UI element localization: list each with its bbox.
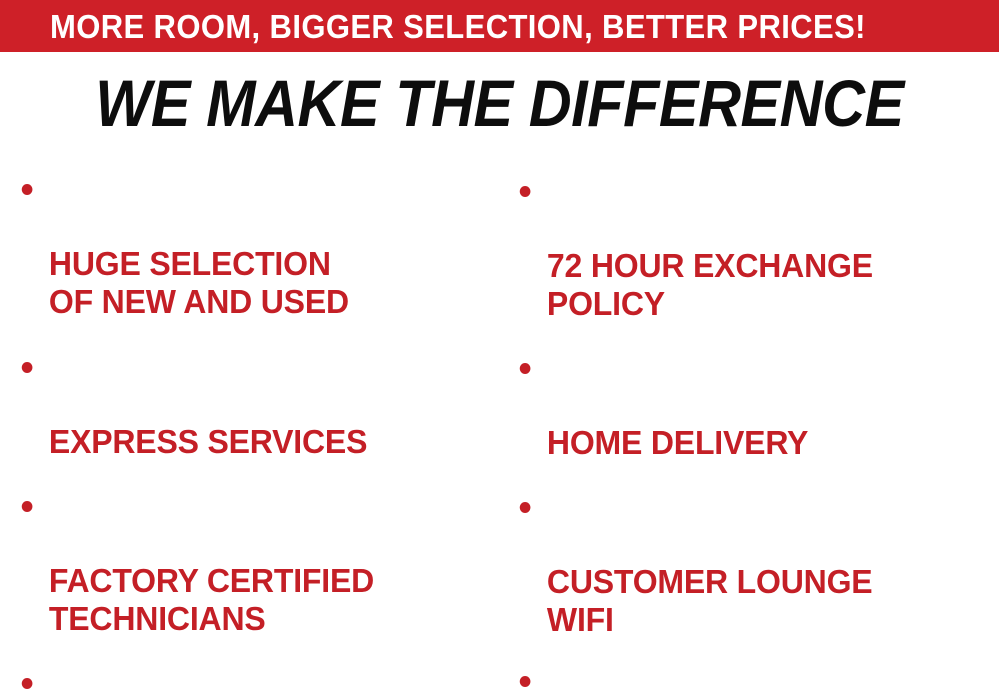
list-item-label: EXPRESS SERVICES xyxy=(49,423,367,460)
list-item-label: HUGE SELECTION OF NEW AND USED xyxy=(49,245,349,320)
bullet-dot-icon xyxy=(22,678,33,689)
bullet-dot-icon xyxy=(520,363,531,374)
bullet-dot-icon xyxy=(520,186,531,197)
bullet-dot-icon xyxy=(22,184,33,195)
list-item-label: CUSTOMER LOUNGE WIFI xyxy=(547,563,873,638)
promotional-banner: MORE ROOM, BIGGER SELECTION, BETTER PRIC… xyxy=(0,0,999,692)
list-item-label: FACTORY CERTIFIED TECHNICIANS xyxy=(49,562,374,637)
list-item: COMPLIMENTARY LOANER CARS xyxy=(14,663,491,692)
bullet-dot-icon xyxy=(22,501,33,512)
list-item: HOME DELIVERY xyxy=(512,348,984,462)
feature-columns: HUGE SELECTION OF NEW AND USED EXPRESS S… xyxy=(0,160,999,692)
list-item: MILITARY DISCOUNTS xyxy=(512,661,984,692)
announcement-strip: MORE ROOM, BIGGER SELECTION, BETTER PRIC… xyxy=(0,0,999,52)
list-item: EXPRESS SERVICES xyxy=(14,347,491,461)
list-item: FACTORY CERTIFIED TECHNICIANS xyxy=(14,486,491,638)
feature-column-left: HUGE SELECTION OF NEW AND USED EXPRESS S… xyxy=(14,160,506,692)
list-item: 72 HOUR EXCHANGE POLICY xyxy=(512,171,984,323)
announcement-strip-text: MORE ROOM, BIGGER SELECTION, BETTER PRIC… xyxy=(50,10,866,43)
bullet-dot-icon xyxy=(520,676,531,687)
list-item: HUGE SELECTION OF NEW AND USED xyxy=(14,169,491,321)
bullet-dot-icon xyxy=(22,362,33,373)
page-title: WE MAKE THE DIFFERENCE xyxy=(50,70,949,136)
list-item-label: 72 HOUR EXCHANGE POLICY xyxy=(547,247,873,322)
bullet-dot-icon xyxy=(520,502,531,513)
list-item: CUSTOMER LOUNGE WIFI xyxy=(512,487,984,639)
list-item-label: HOME DELIVERY xyxy=(547,424,808,461)
feature-column-right: 72 HOUR EXCHANGE POLICY HOME DELIVERY CU… xyxy=(512,160,999,692)
